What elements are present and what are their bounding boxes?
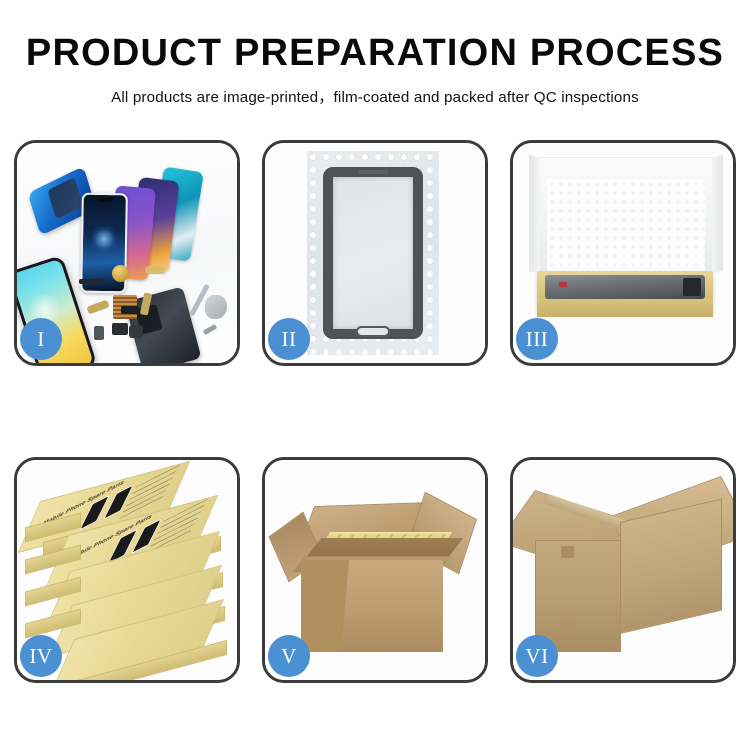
mailer-box-front-panel (537, 299, 713, 317)
spare-part-connector (79, 279, 103, 284)
sealed-carton-front-face (535, 540, 621, 652)
carton-left-face (301, 560, 443, 652)
step-badge-5: V (268, 635, 310, 677)
step-badge-6: VI (516, 635, 558, 677)
bubble-wrap-sheet (307, 151, 439, 355)
step-badge-3: III (516, 318, 558, 360)
header: PRODUCT PREPARATION PROCESS All products… (0, 0, 750, 107)
spare-part-flex-cable-a (145, 266, 165, 274)
spare-part-metal-shield (205, 295, 227, 319)
page-title: PRODUCT PREPARATION PROCESS (0, 34, 750, 74)
sealed-carton-right-face (620, 498, 722, 634)
carton-edge-notch-top (561, 546, 574, 558)
packed-screen-product (545, 275, 705, 299)
home-button-icon (356, 326, 390, 337)
process-step-panel-1: I (14, 140, 240, 366)
spare-part-camera-module (112, 323, 128, 335)
product-label-sticker (559, 282, 567, 287)
phone-notch-icon (97, 198, 113, 202)
step-badge-1: I (20, 318, 62, 360)
spare-part-speaker (129, 325, 143, 338)
wrapped-phone-screen (323, 167, 423, 339)
foam-lining (547, 179, 705, 271)
process-step-grid: I II III (14, 140, 736, 685)
spare-part-coil (112, 265, 129, 282)
carton-edge-notch-bottom (561, 620, 574, 632)
step-badge-2: II (268, 318, 310, 360)
process-step-panel-3: III (510, 140, 736, 366)
process-step-panel-6: VI (510, 457, 736, 683)
step-badge-4: IV (20, 635, 62, 677)
process-step-panel-2: II (262, 140, 488, 366)
process-step-panel-4: Mobile Phone Spare Parts Mobile Phone Sp… (14, 457, 240, 683)
spare-part-bracket (121, 306, 139, 314)
earpiece-icon (358, 170, 388, 174)
spare-part-button (94, 326, 104, 340)
page-subtitle: All products are image-printed，film-coat… (0, 85, 750, 107)
process-step-panel-5: V (262, 457, 488, 683)
